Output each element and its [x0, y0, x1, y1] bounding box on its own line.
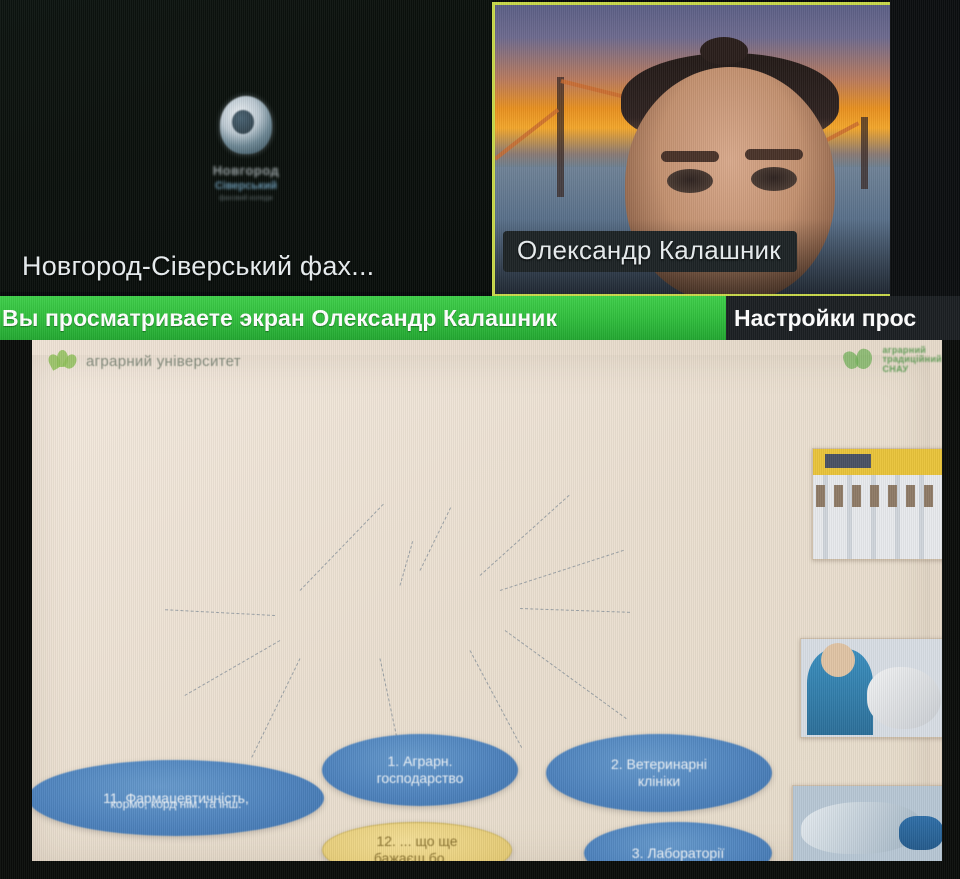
college-logo-line-2: Сіверський	[161, 180, 331, 192]
slide-header-title: аграрний університет	[86, 353, 241, 370]
person-hair-bun	[700, 37, 748, 65]
node-2[interactable]: 2. Ветеринарні клініки	[546, 734, 772, 812]
node-12-label-1: 12. ... що ще	[331, 833, 503, 850]
screen-capture-photo: Новгород Сіверський фаховий коледж Новго…	[0, 0, 960, 879]
share-settings-button[interactable]: Настройки прос	[726, 296, 960, 340]
share-settings-label: Настройки прос	[726, 305, 916, 332]
photo-banner	[813, 449, 960, 475]
bridge-tower-icon	[861, 117, 868, 189]
slide-bezel-left	[0, 340, 32, 879]
slide-header: аграрний університет	[48, 348, 241, 374]
node-2-label-1: 2. Ветеринарні	[554, 756, 764, 773]
college-logo-line-3: фаховий коледж	[161, 195, 331, 202]
screen-share-status-text: Вы просматриваете экран Олександр Калашн…	[0, 305, 557, 332]
corner-leaf-icon	[842, 347, 876, 373]
slide-bezel-bottom	[0, 861, 960, 879]
video-tile-participant-1[interactable]: Новгород Сіверський фаховий коледж Новго…	[0, 0, 492, 292]
college-logo: Новгород Сіверський фаховий коледж	[161, 96, 331, 202]
person-brow-right	[745, 149, 803, 160]
node-1[interactable]: 1. Аграрн. господарство	[322, 734, 518, 806]
person-eye-right	[751, 167, 797, 191]
node-3-label: 3. Лабораторії	[592, 845, 764, 862]
strip-filler	[890, 0, 960, 296]
participant-name-label-2: Олександр Калашник	[503, 231, 797, 272]
shared-slide: аграрний університет аграрний традиційни…	[0, 340, 960, 879]
photo-dog	[867, 667, 941, 729]
emblem-icon	[220, 96, 272, 154]
bridge-tower-icon	[557, 77, 564, 197]
participant-name-label-1: Новгород-Сіверський фах...	[0, 247, 388, 292]
photo-group-students	[812, 448, 960, 560]
slide-corner-logo: аграрний традиційний СНАУ	[842, 346, 942, 374]
node-2-label-2: клініки	[554, 773, 764, 790]
node-1-label-2: господарство	[330, 770, 510, 787]
video-tile-participant-2[interactable]: Олександр Калашник	[492, 2, 958, 297]
person-eye-left	[667, 169, 713, 193]
person-brow-left	[661, 151, 719, 162]
slide-bezel-right	[942, 340, 960, 879]
university-leaf-icon	[48, 348, 76, 374]
photo-vet-with-dog	[800, 638, 950, 738]
photo-vet-head	[821, 643, 855, 677]
video-tile-strip: Новгород Сіверський фаховий коледж Новго…	[0, 0, 960, 296]
photo-heads	[813, 485, 960, 507]
node-11-line2: кормо, корд нім. та інш.	[28, 784, 324, 824]
screen-share-status-bar: Вы просматриваете экран Олександр Калашн…	[0, 296, 748, 340]
photo-gloved-hand	[899, 816, 943, 850]
college-logo-line-1: Новгород	[161, 163, 331, 178]
node-1-label-1: 1. Аграрн.	[330, 753, 510, 770]
corner-logo-line-3: СНАУ	[882, 365, 942, 374]
